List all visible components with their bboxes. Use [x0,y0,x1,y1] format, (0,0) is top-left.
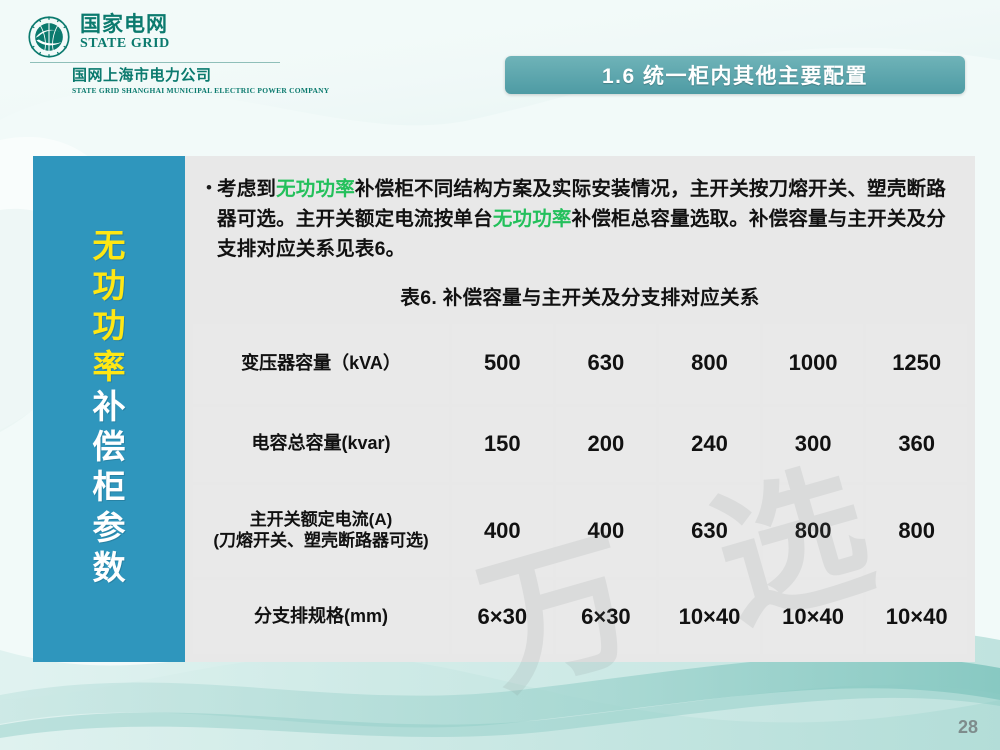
table-cell: 1250 [866,324,967,404]
bullet-paragraph: • 考虑到无功功率补偿柜不同结构方案及实际安装情况，主开关按刀熔开关、塑壳断路器… [185,156,975,275]
brand-logo: 国家电网 STATE GRID [28,14,170,58]
subsidiary-name-cn: 国网上海市电力公司 [72,68,329,85]
page-number: 28 [958,717,978,738]
side-char-6: 柜 [93,467,126,507]
table-cell: 360 [866,407,967,482]
row-label: 主开关额定电流(A) (刀熔开关、塑壳断路器可选) [193,485,449,577]
table-cell: 6×30 [556,580,657,654]
table-cell: 800 [866,485,967,577]
side-char-7: 参 [93,508,126,548]
side-char-8: 数 [93,548,126,588]
row-label: 分支排规格(mm) [193,580,449,654]
side-char-1: 功 [93,266,126,306]
table-cell: 150 [452,407,553,482]
table-cell: 400 [556,485,657,577]
side-char-2: 功 [93,306,126,346]
table-cell: 6×30 [452,580,553,654]
table-cell: 800 [659,324,760,404]
table-cell: 500 [452,324,553,404]
table-caption: 表6. 补偿容量与主开关及分支排对应关系 [185,275,975,324]
table-cell: 1000 [763,324,864,404]
section-vertical-label: 无 功 功 率 补 偿 柜 参 数 [33,156,185,662]
table-cell: 630 [556,324,657,404]
state-grid-globe-emblem [28,16,70,58]
slide-header: 国家电网 STATE GRID 国网上海市电力公司 STATE GRID SHA… [0,0,1000,110]
table-row: 分支排规格(mm) 6×30 6×30 10×40 10×40 10×40 [193,580,967,654]
parameters-table: 变压器容量（kVA） 500 630 800 1000 1250 电容总容量(k… [193,324,967,654]
logo-company-cn: 国家电网 [80,14,170,36]
content-panel: 万 选 • 考虑到无功功率补偿柜不同结构方案及实际安装情况，主开关按刀熔开关、塑… [185,156,975,662]
side-char-5: 偿 [93,427,126,467]
table-row: 电容总容量(kvar) 150 200 240 300 360 [193,407,967,482]
side-char-0: 无 [93,226,126,266]
para-seg-3: 无功功率 [493,208,572,230]
table-cell: 10×40 [866,580,967,654]
subsidiary-name-en: STATE GRID SHANGHAI MUNICIPAL ELECTRIC P… [72,86,329,95]
paragraph-text: 考虑到无功功率补偿柜不同结构方案及实际安装情况，主开关按刀熔开关、塑壳断路器可选… [217,174,955,265]
table-cell: 300 [763,407,864,482]
table-cell: 10×40 [763,580,864,654]
slide-title-bar: 1.6 统一柜内其他主要配置 [505,56,965,94]
table-cell: 800 [763,485,864,577]
side-char-4: 补 [93,387,126,427]
table-row: 变压器容量（kVA） 500 630 800 1000 1250 [193,324,967,404]
side-char-3: 率 [93,347,126,387]
row-label: 变压器容量（kVA） [193,324,449,404]
para-seg-0: 考虑到 [217,178,276,200]
logo-divider [30,62,280,63]
brand-subsidiary: 国网上海市电力公司 STATE GRID SHANGHAI MUNICIPAL … [72,68,329,95]
table-row: 主开关额定电流(A) (刀熔开关、塑壳断路器可选) 400 400 630 80… [193,485,967,577]
table-cell: 10×40 [659,580,760,654]
page-title: 1.6 统一柜内其他主要配置 [602,60,868,90]
slide-canvas: 国家电网 STATE GRID 国网上海市电力公司 STATE GRID SHA… [0,0,1000,750]
bullet-marker-icon: • [201,174,217,201]
table-cell: 400 [452,485,553,577]
table-cell: 240 [659,407,760,482]
table-cell: 200 [556,407,657,482]
para-seg-1: 无功功率 [276,178,355,200]
table-cell: 630 [659,485,760,577]
slide-body: 无 功 功 率 补 偿 柜 参 数 万 选 • 考虑到无功功率补偿柜不同结构方案… [33,156,975,662]
row-label: 电容总容量(kvar) [193,407,449,482]
logo-company-en: STATE GRID [80,36,170,53]
